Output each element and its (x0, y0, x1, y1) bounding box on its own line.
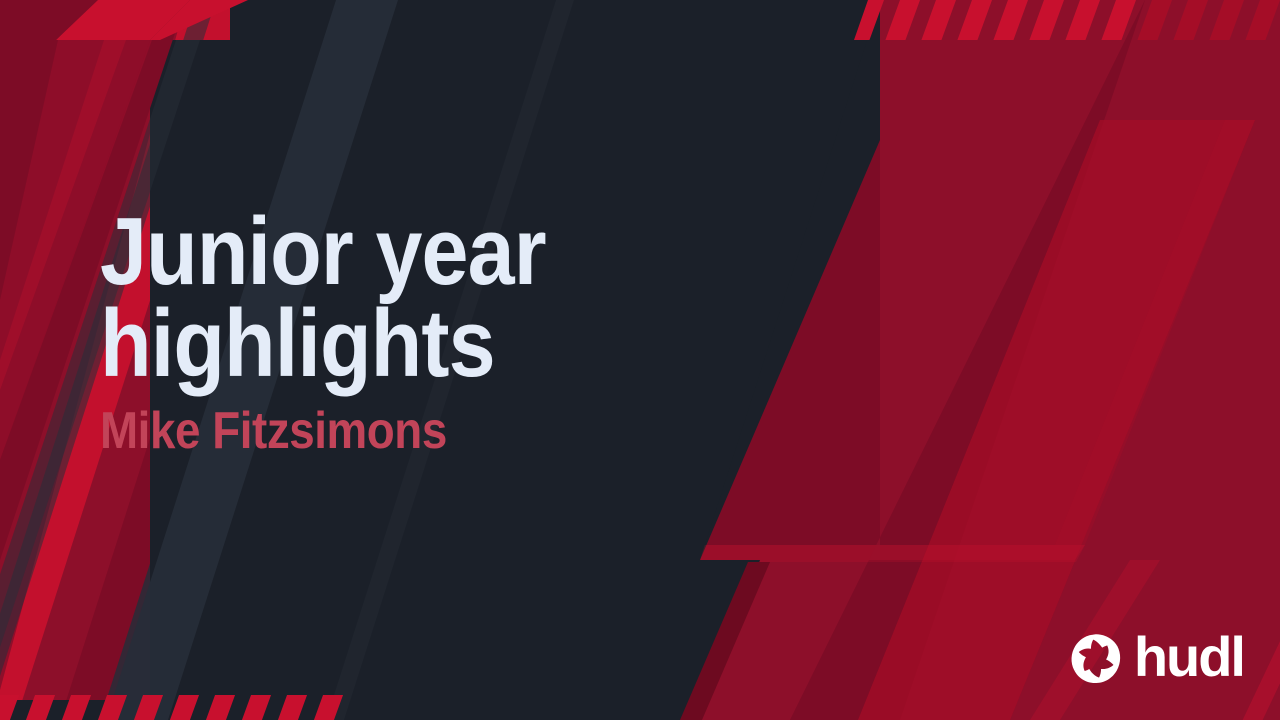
hudl-logo: hudl (1068, 632, 1244, 688)
page-title-line-2: highlights (100, 298, 769, 390)
title-text-block: Junior year highlights Mike Fitzsimons (100, 206, 860, 459)
subtitle-athlete-name: Mike Fitzsimons (100, 404, 769, 459)
title-card: Junior year highlights Mike Fitzsimons h… (0, 0, 1280, 720)
page-title-line-1: Junior year (100, 206, 769, 298)
hudl-logo-mark-icon (1068, 632, 1124, 688)
hudl-wordmark: hudl (1134, 629, 1244, 685)
